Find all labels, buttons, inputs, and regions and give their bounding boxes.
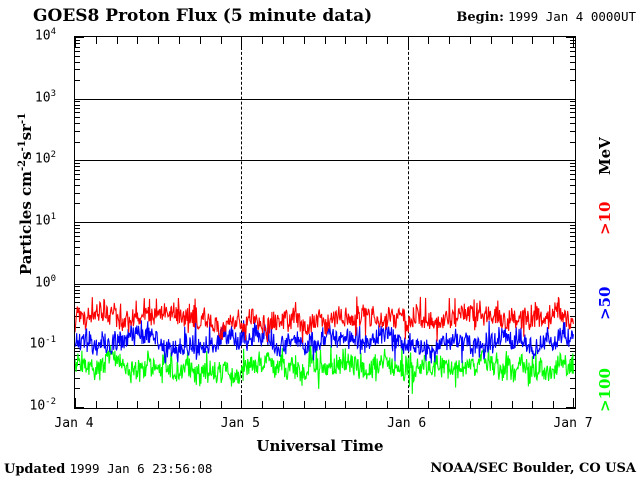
x-tick-label: Jan 6 [387,416,426,431]
y-tick-label: 10-2 [30,397,57,413]
y-tick-label: 102 [35,150,56,166]
y-axis-title: Particles cm-2s-1sr-1 [17,64,35,324]
y-tick [75,407,84,408]
x-tick-label: Jan 4 [54,416,93,431]
source-credit: NOAA/SEC Boulder, CO USA [430,461,636,476]
flux-traces [75,37,574,407]
updated-stamp: Updated 1999 Jan 6 23:56:08 [4,461,212,477]
legend-unit: MeV [596,137,614,175]
begin-timestamp: Begin: 1999 Jan 4 0000UT [456,9,636,25]
legend-entry: >10 [596,202,614,235]
proton-flux-plot: GOES8 Proton Flux (5 minute data) Begin:… [0,0,640,480]
begin-value: 1999 Jan 4 0000UT [508,9,636,24]
legend-entry: >50 [596,287,614,320]
begin-label: Begin: [456,10,504,25]
flux-series [75,345,573,394]
x-tick-label: Jan 5 [221,416,260,431]
y-tick-label: 100 [35,274,56,290]
updated-label: Updated [4,462,65,477]
y-tick-label: 101 [35,212,56,228]
plot-area [74,36,576,409]
updated-value: 1999 Jan 6 23:56:08 [69,461,212,476]
y-tick-label: 103 [35,89,56,105]
page-title: GOES8 Proton Flux (5 minute data) [33,6,372,26]
y-tick-label: 10-1 [30,335,57,351]
legend-entry: >100 [596,368,614,412]
x-tick-label: Jan 7 [553,416,592,431]
x-axis-title: Universal Time [0,437,640,455]
y-tick-label: 104 [35,27,56,43]
